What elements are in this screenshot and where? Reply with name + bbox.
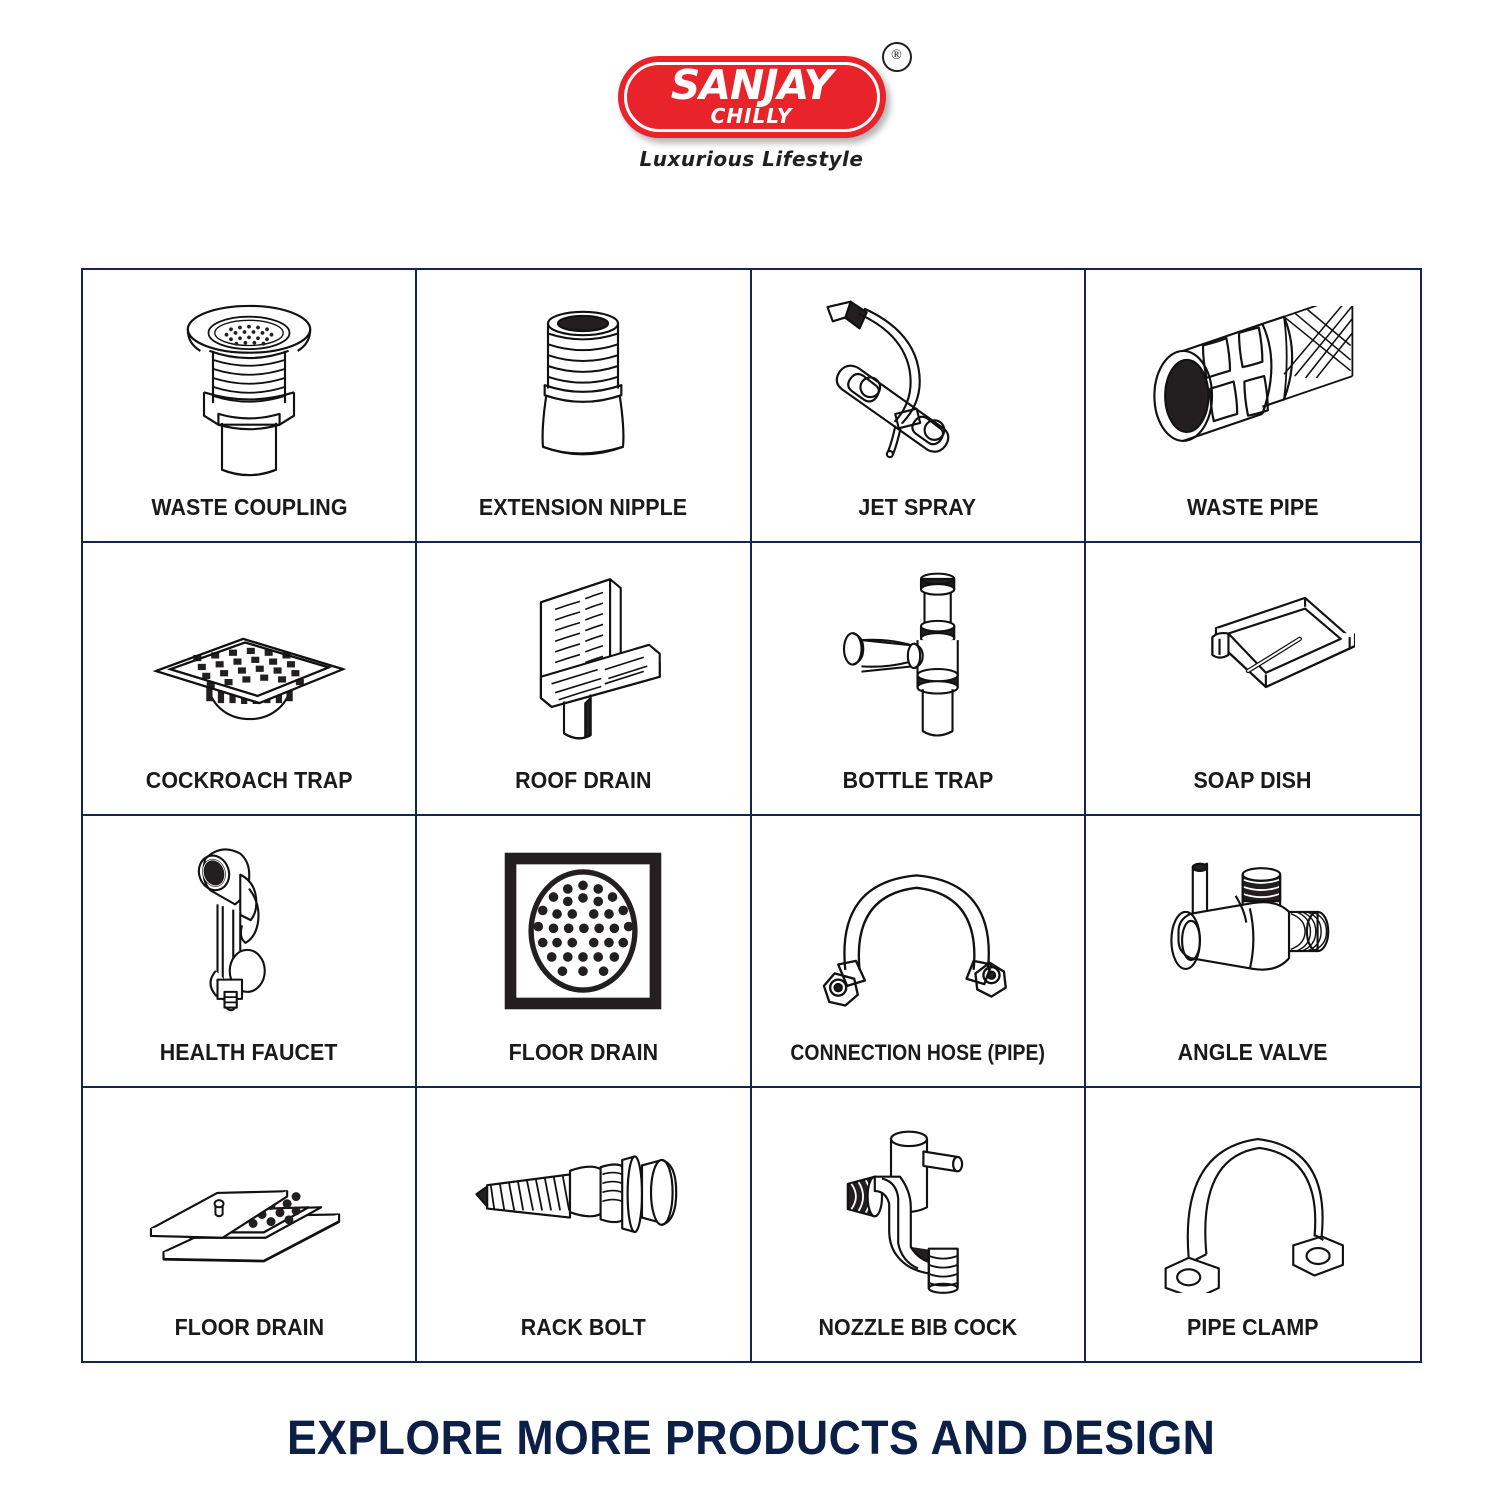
angle-valve-icon <box>1092 830 1414 1034</box>
brand-header: SANJAY CHILLY ® Luxurious Lifestyle <box>0 0 1503 250</box>
cockroach-trap-icon <box>89 557 409 761</box>
product-label: EXTENSION NIPPLE <box>477 488 689 541</box>
floor-drain-cover-icon <box>89 1102 409 1308</box>
logo-tagline: Luxurious Lifestyle <box>602 147 902 171</box>
roof-drain-icon <box>423 557 743 761</box>
extension-nipple-icon <box>423 284 743 488</box>
product-cell-roof-drain[interactable]: ROOF DRAIN <box>417 543 751 816</box>
product-label: ANGLE VALVE <box>1176 1033 1330 1086</box>
health-faucet-icon <box>89 830 409 1034</box>
waste-coupling-icon <box>89 284 409 488</box>
product-cell-cockroach-trap[interactable]: COCKROACH TRAP <box>83 543 417 816</box>
product-cell-extension-nipple[interactable]: EXTENSION NIPPLE <box>417 270 751 543</box>
product-cell-health-faucet[interactable]: HEALTH FAUCET <box>83 816 417 1089</box>
product-label: SOAP DISH <box>1192 761 1314 814</box>
product-label: BOTTLE TRAP <box>840 761 994 814</box>
footer-banner: EXPLORE MORE PRODUCTS AND DESIGN <box>0 1398 1503 1478</box>
product-cell-rack-bolt[interactable]: RACK BOLT <box>417 1088 751 1361</box>
product-label: ROOF DRAIN <box>513 761 653 814</box>
product-label: FLOOR DRAIN <box>507 1033 660 1086</box>
nozzle-bib-cock-icon <box>758 1102 1078 1308</box>
product-label: WASTE COUPLING <box>149 488 349 541</box>
product-label: NOZZLE BIB COCK <box>816 1308 1018 1361</box>
product-cell-waste-pipe[interactable]: WASTE PIPE <box>1086 270 1420 543</box>
product-label: RACK BOLT <box>519 1308 648 1361</box>
product-label: CONNECTION HOSE (PIPE) <box>788 1034 1046 1086</box>
product-cell-jet-spray[interactable]: JET SPRAY <box>752 270 1086 543</box>
registered-trademark-icon: ® <box>882 42 912 72</box>
product-cell-waste-coupling[interactable]: WASTE COUPLING <box>83 270 417 543</box>
jet-spray-icon <box>758 284 1078 488</box>
product-label: WASTE PIPE <box>1185 488 1320 541</box>
product-label: COCKROACH TRAP <box>144 761 355 814</box>
waste-pipe-icon <box>1092 284 1414 488</box>
product-cell-bottle-trap[interactable]: BOTTLE TRAP <box>752 543 1086 816</box>
product-label: HEALTH FAUCET <box>158 1033 340 1086</box>
floor-drain-round-icon <box>423 830 743 1034</box>
product-grid: WASTE COUPLING EX <box>81 268 1422 1363</box>
product-cell-connection-hose[interactable]: CONNECTION HOSE (PIPE) <box>752 816 1086 1089</box>
company-logo: SANJAY CHILLY ® Luxurious Lifestyle <box>602 56 902 171</box>
product-cell-angle-valve[interactable]: ANGLE VALVE <box>1086 816 1420 1089</box>
product-label: FLOOR DRAIN <box>172 1308 325 1361</box>
product-cell-pipe-clamp[interactable]: PIPE CLAMP <box>1086 1088 1420 1361</box>
product-cell-floor-drain-cover[interactable]: FLOOR DRAIN <box>83 1088 417 1361</box>
product-label: JET SPRAY <box>857 488 978 541</box>
product-label: PIPE CLAMP <box>1185 1308 1320 1361</box>
logo-brand-subname: CHILLY <box>618 106 886 126</box>
logo-badge: SANJAY CHILLY ® <box>618 56 886 138</box>
bottle-trap-icon <box>758 557 1078 761</box>
product-cell-soap-dish[interactable]: SOAP DISH <box>1086 543 1420 816</box>
logo-brand-name: SANJAY <box>618 65 886 106</box>
product-cell-nozzle-bib-cock[interactable]: NOZZLE BIB COCK <box>752 1088 1086 1361</box>
soap-dish-icon <box>1092 557 1414 761</box>
connection-hose-icon <box>758 830 1078 1035</box>
product-cell-floor-drain-round[interactable]: FLOOR DRAIN <box>417 816 751 1089</box>
rack-bolt-icon <box>423 1102 743 1308</box>
pipe-clamp-icon <box>1092 1102 1414 1308</box>
footer-cta-text: EXPLORE MORE PRODUCTS AND DESIGN <box>287 1411 1215 1466</box>
